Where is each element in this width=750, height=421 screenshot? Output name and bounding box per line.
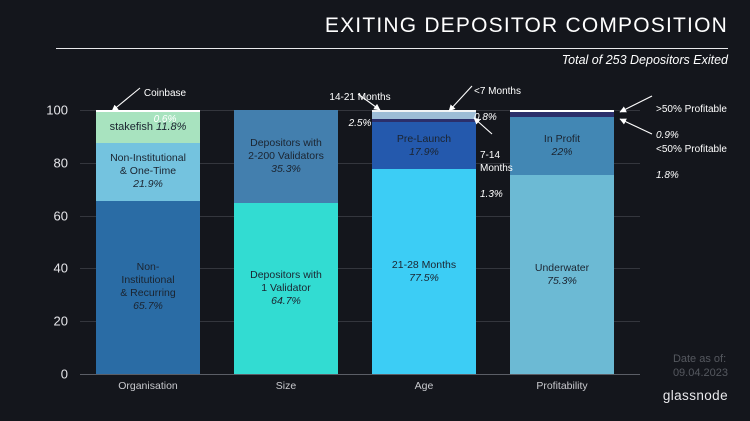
callout-lt50-value: 1.8% — [656, 169, 727, 182]
segment-underwater[interactable]: Underwater75.3% — [510, 175, 614, 374]
chart-canvas: EXITING DEPOSITOR COMPOSITION Total of 2… — [0, 0, 750, 421]
y-tick-label-60: 60 — [54, 208, 68, 223]
callout-months-7-14-label: 7-14 Months — [480, 149, 513, 175]
callout-coinbase-value: 0.6% — [126, 113, 204, 126]
callout-lt50-profitable: <50% Profitable 1.8% — [656, 130, 727, 195]
segment-depositors-with-1-validator[interactable]: Depositors with 1 Validator64.7% — [234, 203, 338, 374]
date-label: Date as of: — [673, 352, 728, 366]
plot-area: 020406080100 stakefish 11.8%Non-Institut… — [88, 110, 640, 374]
page-title: EXITING DEPOSITOR COMPOSITION — [325, 14, 728, 38]
segment-non-institutional-one-time[interactable]: Non-Institutional & One-Time21.9% — [96, 143, 200, 201]
bar-age[interactable]: Pre-Launch17.9%21-28 Months77.5% — [372, 110, 476, 374]
callout-months-lt7: <7 Months 0.8% — [474, 72, 521, 137]
callout-coinbase-label: Coinbase — [126, 87, 204, 100]
segment-21-28-months[interactable]: 21-28 Months77.5% — [372, 169, 476, 374]
date-value: 09.04.2023 — [673, 366, 728, 380]
bar-size[interactable]: Depositors with 2-200 Validators35.3%Dep… — [234, 110, 338, 374]
segment-label: 21-28 Months77.5% — [389, 259, 459, 285]
segment-label: Pre-Launch17.9% — [394, 133, 454, 159]
segment-non-institutional-recurring[interactable]: Non- Institutional & Recurring65.7% — [96, 201, 200, 374]
y-tick-label-0: 0 — [61, 367, 68, 382]
y-tick-label-80: 80 — [54, 155, 68, 170]
callout-months-7-14: 7-14 Months 1.3% — [480, 136, 513, 214]
segment-label: Depositors with 2-200 Validators35.3% — [245, 137, 327, 176]
x-label-profitability: Profitability — [510, 380, 614, 392]
bar-profitability[interactable]: In Profit22%Underwater75.3% — [510, 110, 614, 374]
callout-lt50-label: <50% Profitable — [656, 143, 727, 156]
callout-months-lt7-label: <7 Months — [474, 85, 521, 98]
segment-label: In Profit22% — [541, 133, 583, 159]
callout-months-14-21-value: 2.5% — [320, 117, 400, 130]
callout-months-14-21: 14-21 Months 2.5% — [320, 78, 400, 143]
callout-months-7-14-value: 1.3% — [480, 188, 513, 201]
segment-in-profit[interactable]: In Profit22% — [510, 117, 614, 175]
segment-label: Underwater75.3% — [532, 262, 592, 288]
y-tick-label-100: 100 — [46, 103, 68, 118]
callout-months-14-21-label: 14-21 Months — [320, 91, 400, 104]
brand-logo: glassnode — [663, 388, 728, 403]
title-divider — [56, 48, 728, 49]
y-tick-label-40: 40 — [54, 261, 68, 276]
callout-coinbase: Coinbase 0.6% — [126, 74, 204, 139]
segment-label: Non-Institutional & One-Time21.9% — [107, 152, 189, 191]
callout-gt50-label: >50% Profitable — [656, 103, 727, 116]
x-label-size: Size — [234, 380, 338, 392]
y-tick-label-20: 20 — [54, 314, 68, 329]
gridline-0: 0 — [80, 374, 640, 375]
callout-months-lt7-value: 0.8% — [474, 111, 521, 124]
segment-label: Non- Institutional & Recurring65.7% — [117, 261, 178, 313]
x-label-age: Age — [372, 380, 476, 392]
chart-subtitle: Total of 253 Depositors Exited — [562, 53, 728, 67]
segment-label: Depositors with 1 Validator64.7% — [247, 269, 325, 308]
x-label-organisation: Organisation — [96, 380, 200, 392]
bar-organisation[interactable]: stakefish 11.8%Non-Institutional & One-T… — [96, 110, 200, 374]
date-block: Date as of: 09.04.2023 — [673, 352, 728, 380]
